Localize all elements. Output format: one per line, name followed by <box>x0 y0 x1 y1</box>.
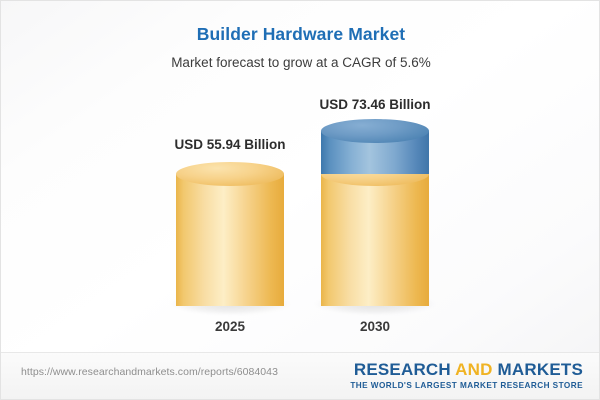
logo-word-research: RESEARCH <box>354 360 455 379</box>
market-infographic: Builder Hardware Market Market forecast … <box>0 0 600 400</box>
bar-top-ellipse <box>176 162 284 186</box>
bar-value-label-2030: USD 73.46 Billion <box>265 97 485 112</box>
logo-wordmark: RESEARCH AND MARKETS <box>350 360 583 379</box>
logo-word-and: AND <box>455 360 492 379</box>
chart-plot-area: USD 55.94 Billion 2025 USD 73.46 Billion… <box>1 1 600 353</box>
research-and-markets-logo[interactable]: RESEARCH AND MARKETS THE WORLD'S LARGEST… <box>350 360 583 391</box>
logo-word-markets: MARKETS <box>493 360 583 379</box>
report-url-link[interactable]: https://www.researchandmarkets.com/repor… <box>21 366 278 378</box>
bar-2030 <box>321 123 429 306</box>
logo-tagline: THE WORLD'S LARGEST MARKET RESEARCH STOR… <box>350 380 583 391</box>
bar-value-label-2025: USD 55.94 Billion <box>120 137 340 152</box>
footer: https://www.researchandmarkets.com/repor… <box>1 352 600 399</box>
bar-top-ellipse <box>321 119 429 143</box>
bar-category-label-2030: 2030 <box>265 319 485 334</box>
bar-segment-base <box>321 174 429 306</box>
bar-2025 <box>176 166 284 306</box>
bar-segment-base <box>176 174 284 306</box>
